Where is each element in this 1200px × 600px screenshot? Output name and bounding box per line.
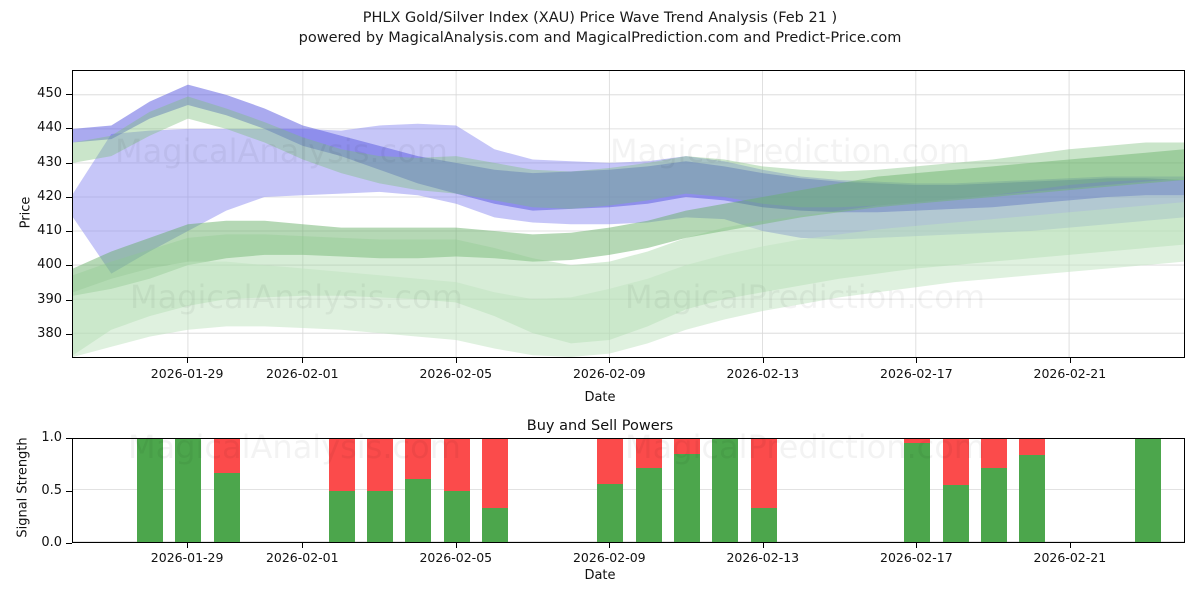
sell-power-segment <box>597 439 623 484</box>
powers-bar[interactable] <box>751 439 777 542</box>
powers-x-tick-label: 2026-02-21 <box>1010 550 1130 565</box>
price-wave-svg <box>73 71 1184 357</box>
chart-page: PHLX Gold/Silver Index (XAU) Price Wave … <box>0 0 1200 600</box>
buy-power-segment <box>712 439 738 542</box>
powers-bar[interactable] <box>674 439 700 542</box>
sell-power-segment <box>674 439 700 454</box>
price-x-axis-title: Date <box>0 390 1200 405</box>
price-x-tick-mark <box>609 358 610 363</box>
powers-x-tick-mark <box>456 543 457 548</box>
sell-power-segment <box>943 439 969 485</box>
powers-bar[interactable] <box>175 439 201 542</box>
buy-sell-powers-plot-area <box>72 438 1185 543</box>
powers-bar[interactable] <box>1135 439 1161 542</box>
price-y-tick-label: 390 <box>0 292 62 307</box>
powers-bar[interactable] <box>444 439 470 542</box>
price-y-tick-label: 400 <box>0 257 62 272</box>
price-x-tick-mark <box>1070 358 1071 363</box>
sell-power-segment <box>405 439 431 479</box>
price-y-tick-label: 380 <box>0 326 62 341</box>
powers-x-tick-mark <box>187 543 188 548</box>
powers-chart-title: Buy and Sell Powers <box>0 418 1200 434</box>
price-y-tick-mark <box>66 128 72 129</box>
powers-bar[interactable] <box>597 439 623 542</box>
price-y-tick-mark <box>66 94 72 95</box>
price-x-tick-label: 2026-02-05 <box>396 366 516 381</box>
sell-power-segment <box>1019 439 1045 455</box>
price-y-tick-mark <box>66 197 72 198</box>
sell-power-segment <box>444 439 470 491</box>
chart-title: PHLX Gold/Silver Index (XAU) Price Wave … <box>0 8 1200 28</box>
price-y-tick-mark <box>66 265 72 266</box>
price-x-tick-mark <box>456 358 457 363</box>
powers-bar[interactable] <box>1019 439 1045 542</box>
price-x-tick-label: 2026-02-01 <box>242 366 362 381</box>
price-y-tick-mark <box>66 300 72 301</box>
buy-power-segment <box>137 439 163 542</box>
powers-y-tick-mark <box>66 543 72 544</box>
powers-y-tick-label: 0.5 <box>0 483 62 498</box>
price-y-tick-label: 450 <box>0 86 62 101</box>
price-x-tick-label: 2026-02-17 <box>856 366 976 381</box>
buy-power-segment <box>904 443 930 542</box>
price-y-tick-label: 430 <box>0 155 62 170</box>
buy-power-segment <box>943 485 969 542</box>
buy-power-segment <box>751 508 777 542</box>
powers-x-tick-label: 2026-02-09 <box>549 550 669 565</box>
sell-power-segment <box>636 439 662 468</box>
powers-x-tick-mark <box>916 543 917 548</box>
buy-power-segment <box>214 473 240 542</box>
powers-y-tick-label: 1.0 <box>0 430 62 445</box>
price-y-tick-mark <box>66 334 72 335</box>
powers-bar[interactable] <box>329 439 355 542</box>
price-y-tick-mark <box>66 163 72 164</box>
powers-y-tick-mark <box>66 438 72 439</box>
powers-y-tick-mark <box>66 491 72 492</box>
sell-power-segment <box>214 439 240 473</box>
powers-x-tick-label: 2026-02-05 <box>396 550 516 565</box>
powers-bar[interactable] <box>636 439 662 542</box>
buy-power-segment <box>482 508 508 542</box>
powers-x-tick-mark <box>609 543 610 548</box>
chart-subtitle: powered by MagicalAnalysis.com and Magic… <box>0 28 1200 48</box>
price-y-axis-title: Price <box>19 183 34 243</box>
buy-power-segment <box>597 484 623 542</box>
buy-power-segment <box>405 479 431 542</box>
buy-power-segment <box>444 491 470 543</box>
price-x-tick-label: 2026-02-13 <box>703 366 823 381</box>
buy-power-segment <box>674 454 700 542</box>
price-x-tick-mark <box>302 358 303 363</box>
powers-bar[interactable] <box>405 439 431 542</box>
price-x-tick-mark <box>916 358 917 363</box>
powers-x-tick-label: 2026-02-13 <box>703 550 823 565</box>
powers-x-tick-label: 2026-01-29 <box>127 550 247 565</box>
price-x-tick-mark <box>187 358 188 363</box>
powers-bar[interactable] <box>943 439 969 542</box>
sell-power-segment <box>482 439 508 508</box>
buy-power-segment <box>367 491 393 543</box>
powers-x-tick-label: 2026-02-17 <box>856 550 976 565</box>
powers-y-axis-title: Signal Strength <box>16 413 31 563</box>
powers-gridline <box>73 489 1184 490</box>
price-x-tick-label: 2026-02-21 <box>1010 366 1130 381</box>
price-x-tick-mark <box>763 358 764 363</box>
buy-power-segment <box>636 468 662 542</box>
powers-x-tick-label: 2026-02-01 <box>242 550 362 565</box>
buy-power-segment <box>175 439 201 542</box>
powers-gridline <box>73 541 1184 542</box>
powers-x-axis-title: Date <box>0 568 1200 583</box>
buy-power-segment <box>329 491 355 543</box>
powers-x-tick-mark <box>302 543 303 548</box>
buy-power-segment <box>1019 455 1045 542</box>
price-x-tick-label: 2026-02-09 <box>549 366 669 381</box>
powers-x-tick-mark <box>763 543 764 548</box>
price-wave-chart-plot-area <box>72 70 1185 358</box>
page-title: PHLX Gold/Silver Index (XAU) Price Wave … <box>0 8 1200 48</box>
price-y-tick-label: 440 <box>0 120 62 135</box>
sell-power-segment <box>329 439 355 491</box>
powers-bar[interactable] <box>214 439 240 542</box>
powers-bar[interactable] <box>904 439 930 542</box>
powers-bar[interactable] <box>981 439 1007 542</box>
buy-power-segment <box>981 468 1007 542</box>
powers-bar[interactable] <box>482 439 508 542</box>
buy-power-segment <box>1135 439 1161 542</box>
price-x-tick-label: 2026-01-29 <box>127 366 247 381</box>
powers-bar[interactable] <box>367 439 393 542</box>
sell-power-segment <box>981 439 1007 468</box>
price-y-tick-mark <box>66 231 72 232</box>
powers-bar[interactable] <box>712 439 738 542</box>
powers-y-tick-label: 0.0 <box>0 535 62 550</box>
powers-x-tick-mark <box>1070 543 1071 548</box>
powers-bar[interactable] <box>137 439 163 542</box>
sell-power-segment <box>751 439 777 508</box>
sell-power-segment <box>367 439 393 491</box>
